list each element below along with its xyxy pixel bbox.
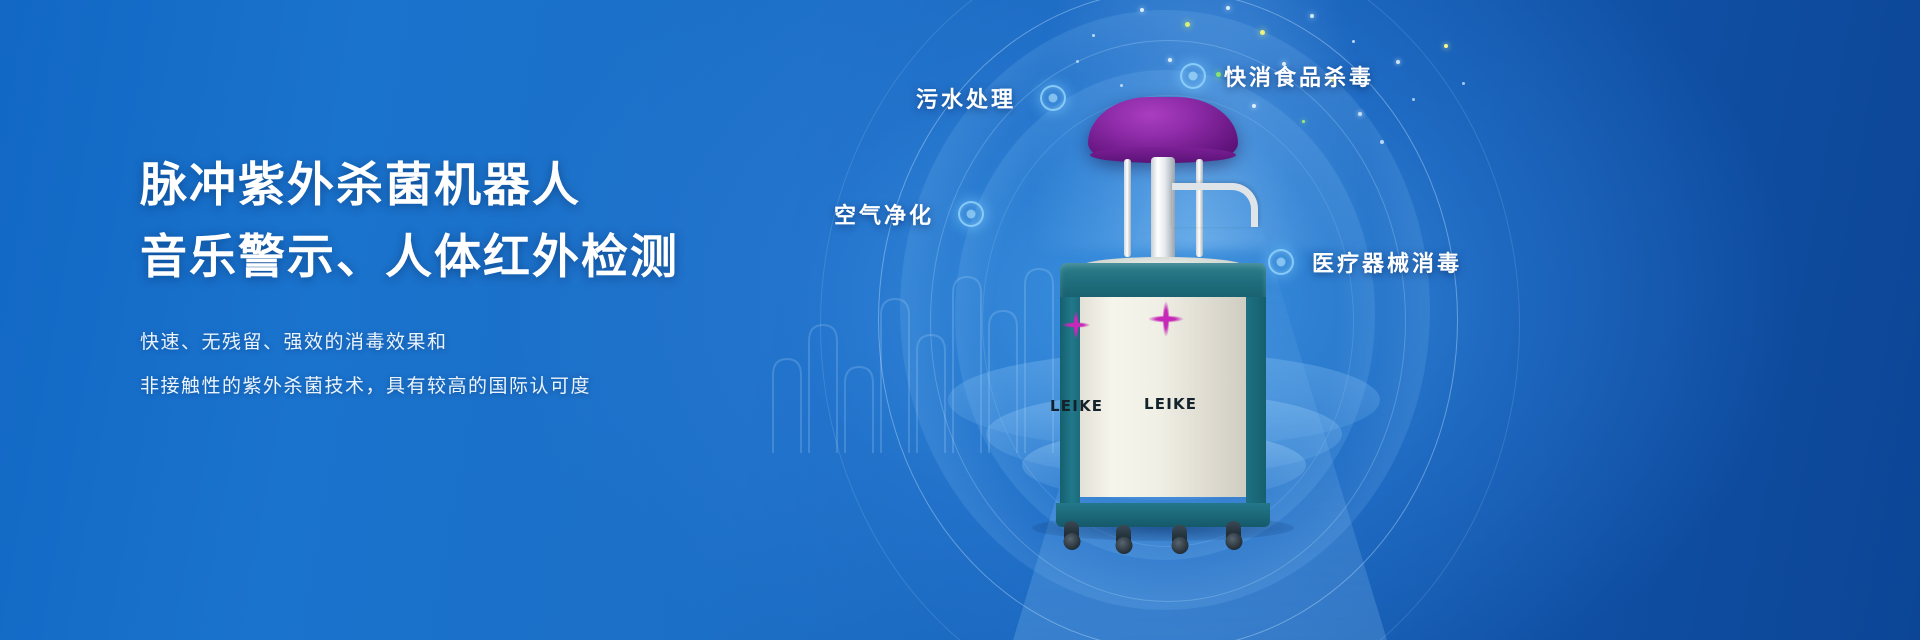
particle-dot [1260, 30, 1265, 35]
push-handle-icon [1172, 183, 1258, 227]
particle-dot [1396, 60, 1400, 64]
caster-wheel-icon [1064, 521, 1079, 543]
subtitle-line-1: 快速、无残留、强效的消毒效果和 [140, 320, 900, 364]
particle-dot [1226, 6, 1230, 10]
uv-disinfection-robot: LEIKE LEIKE [1020, 85, 1300, 505]
feature-label: 空气净化 [834, 198, 934, 230]
ring-node-icon [958, 201, 984, 227]
caster-wheel-icon [1172, 525, 1187, 547]
particle-dot [1140, 8, 1144, 12]
feature-item-air-purification[interactable]: 空气净化 [834, 198, 972, 230]
particle-dot [1092, 34, 1095, 37]
particle-dot [1444, 44, 1448, 48]
feature-label: 污水处理 [916, 82, 1016, 114]
feature-label: 医疗器械消毒 [1312, 246, 1462, 278]
particle-dot [1462, 82, 1465, 85]
particle-dot [1076, 60, 1079, 63]
promo-banner: 脉冲紫外杀菌机器人 音乐警示、人体红外检测 快速、无残留、强效的消毒效果和 非接… [0, 0, 1920, 640]
feature-item-medical-disinfection[interactable]: 医疗器械消毒 [1274, 246, 1462, 278]
uv-sparkle-icon [1056, 305, 1096, 345]
brand-logo-right: LEIKE [1144, 395, 1197, 413]
particle-dot [1358, 112, 1362, 116]
uv-tube [1124, 159, 1131, 257]
caster-wheel-icon [1226, 521, 1241, 543]
particle-dot [1302, 120, 1305, 123]
particle-dot [1168, 58, 1172, 62]
uv-sparkle-icon [1141, 294, 1191, 344]
headline-copy: 脉冲紫外杀菌机器人 音乐警示、人体红外检测 快速、无残留、强效的消毒效果和 非接… [140, 150, 900, 408]
brand-logo-left: LEIKE [1050, 397, 1103, 415]
particle-dot [1380, 140, 1384, 144]
title-line-2: 音乐警示、人体红外检测 [140, 222, 900, 294]
title-line-1: 脉冲紫外杀菌机器人 [140, 150, 900, 222]
subtitle-block: 快速、无残留、强效的消毒效果和 非接触性的紫外杀菌技术，具有较高的国际认可度 [140, 320, 900, 408]
subtitle-line-2: 非接触性的紫外杀菌技术，具有较高的国际认可度 [140, 364, 900, 408]
particle-dot [1352, 40, 1355, 43]
particle-dot [1412, 98, 1415, 101]
particle-dot [1310, 14, 1314, 18]
caster-wheel-icon [1116, 525, 1131, 547]
particle-dot [1185, 22, 1190, 27]
cabinet-right-edge [1246, 297, 1266, 509]
